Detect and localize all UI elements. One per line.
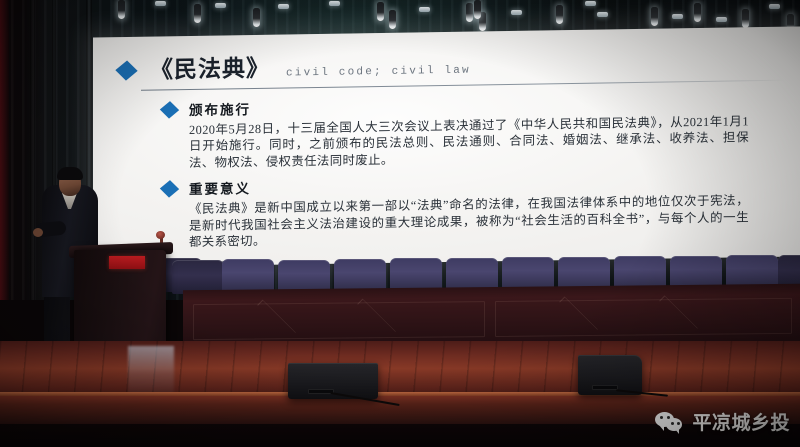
stage-light-icon bbox=[716, 17, 727, 22]
stage-light-icon bbox=[694, 3, 701, 22]
stage-light-icon bbox=[597, 12, 608, 17]
stage-light-icon bbox=[672, 14, 683, 19]
stage-light-icon bbox=[194, 4, 201, 23]
wechat-icon bbox=[655, 411, 685, 433]
stage-light-icon bbox=[377, 2, 384, 21]
stage-light-icon bbox=[511, 10, 522, 15]
stage-light-icon bbox=[389, 10, 396, 29]
blue-diamond-icon bbox=[160, 180, 179, 197]
slide-section-heading: 颁布施行 bbox=[189, 98, 251, 119]
stage-light-icon bbox=[585, 1, 596, 6]
stage-light-icon bbox=[278, 4, 289, 9]
stage-light-icon bbox=[329, 1, 340, 6]
slide-subtitle: civil code; civil law bbox=[286, 65, 471, 82]
slide-section-heading: 重要意义 bbox=[189, 177, 251, 198]
watermark: 平凉城乡投 bbox=[655, 408, 790, 435]
blue-diamond-icon bbox=[160, 101, 179, 118]
stage-light-icon bbox=[466, 3, 473, 22]
stage-light-icon bbox=[253, 8, 260, 27]
left-wall-red-strip bbox=[0, 0, 9, 300]
stage-light-icon bbox=[215, 3, 226, 8]
stage-light-icon bbox=[651, 7, 658, 26]
slide-title-row: 《民法典》 civil code; civil law bbox=[119, 41, 786, 85]
podium-sign bbox=[109, 256, 145, 269]
stage-light-icon bbox=[556, 5, 563, 24]
wall-column bbox=[30, 0, 35, 300]
table-panel bbox=[193, 301, 485, 340]
slide-section: 重要意义 《民法典》是新中国成立以来第一部以“法典”命名的法律，在我国法律体系中… bbox=[163, 169, 786, 251]
stage-light-icon bbox=[474, 0, 481, 19]
slide-section: 颁布施行 2020年5月28日，十三届全国人大三次会议上表决通过了《中华人民共和… bbox=[163, 90, 786, 172]
slide-title: 《民法典》 bbox=[150, 49, 270, 85]
microphone-icon bbox=[156, 231, 165, 239]
screenshot-root: 《民法典》 civil code; civil law 颁布施行 2020年5月… bbox=[0, 0, 800, 447]
watermark-label: 平凉城乡投 bbox=[692, 408, 790, 435]
speaker-hand bbox=[33, 228, 43, 237]
table-panel bbox=[495, 298, 792, 337]
slide-section-body: 《民法典》是新中国成立以来第一部以“法典”命名的法律，在我国法律体系中的地位仅次… bbox=[189, 192, 749, 250]
slide-content: 《民法典》 civil code; civil law 颁布施行 2020年5月… bbox=[93, 26, 800, 267]
slide-section-body: 2020年5月28日，十三届全国人大三次会议上表决通过了《中华人民共和国民法典》… bbox=[189, 113, 749, 171]
stage-light-icon bbox=[742, 9, 749, 28]
stage-light-icon bbox=[118, 0, 125, 19]
stage-light-icon bbox=[769, 4, 780, 9]
speaker-hair bbox=[57, 167, 83, 180]
projection-screen: 《民法典》 civil code; civil law 颁布施行 2020年5月… bbox=[93, 26, 800, 267]
stage-light-icon bbox=[155, 1, 166, 6]
stage-light-icon bbox=[419, 7, 430, 12]
blue-diamond-icon bbox=[115, 60, 137, 80]
stage-monitor-speaker bbox=[578, 355, 642, 395]
chair bbox=[222, 259, 274, 293]
